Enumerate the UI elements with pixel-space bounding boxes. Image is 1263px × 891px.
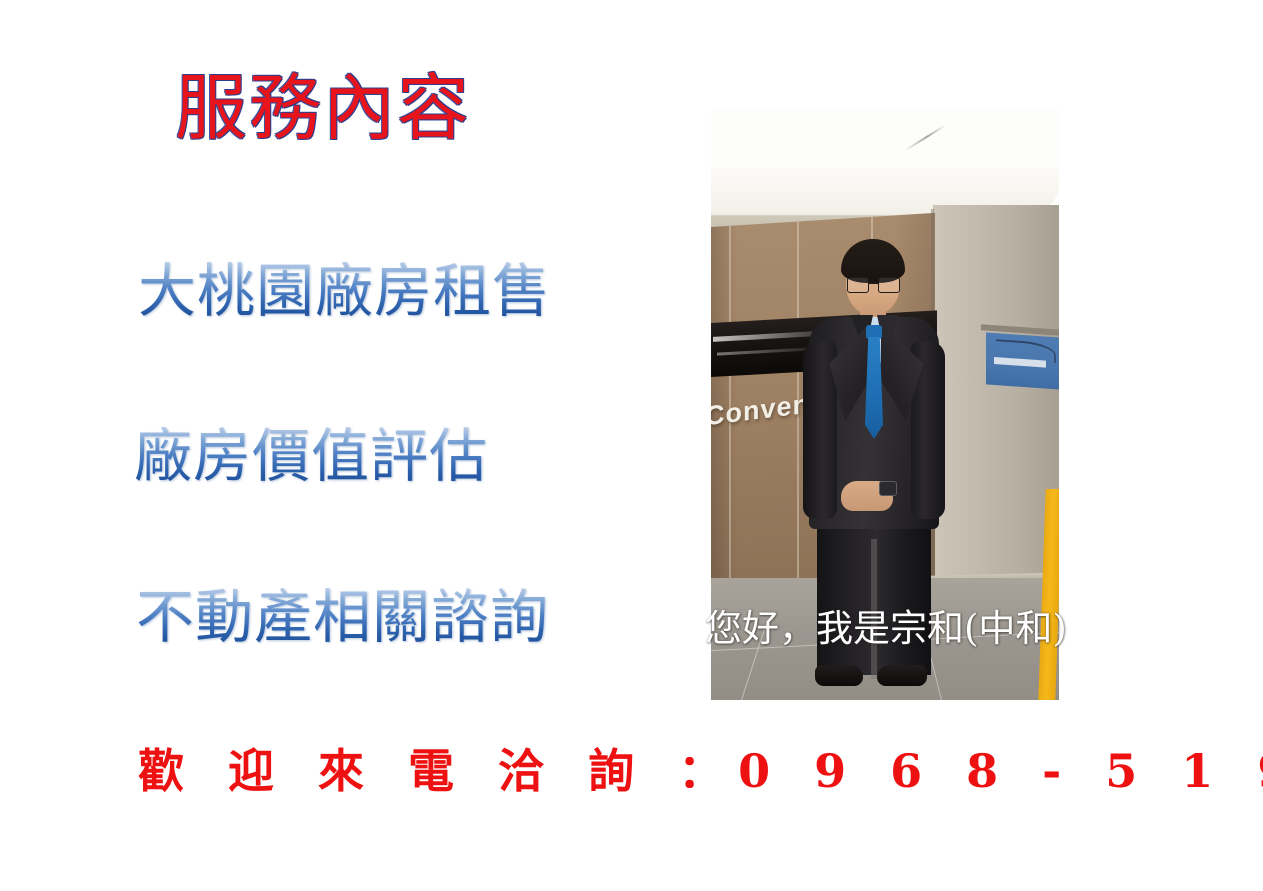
eyeglass-lens-right <box>878 277 900 293</box>
eyeglasses-icon <box>847 277 900 292</box>
slide-canvas: 服務內容 大桃園廠房租售 廠房價值評估 不動產相關諮詢 Convention C… <box>0 0 1263 891</box>
person-right-shoe <box>877 665 927 686</box>
page-title: 服務內容 <box>175 72 471 144</box>
person-left-shoe <box>815 665 863 686</box>
service-item-2: 廠房價值評估 <box>134 427 488 485</box>
service-item-3: 不動產相關諮詢 <box>136 588 549 646</box>
poster-scribble <box>996 339 1056 363</box>
service-item-1: 大桃園廠房租售 <box>138 262 551 320</box>
person-wristwatch <box>879 481 897 496</box>
contact-prefix: 歡 迎 來 電 洽 詢 ： <box>138 744 738 798</box>
ceiling-light-streak <box>904 124 946 151</box>
contact-phone-number: 0 9 6 8 - 5 1 9 - 8 8 8 <box>738 744 1263 798</box>
contact-line: 歡 迎 來 電 洽 詢 ：0 9 6 8 - 5 1 9 - 8 8 8 <box>138 748 1263 794</box>
photo-blue-poster <box>986 332 1059 389</box>
eyeglass-lens-left <box>847 277 869 293</box>
person-necktie <box>865 337 883 439</box>
photo-caption: 您好，我是宗和(中和) <box>705 610 1067 647</box>
person-tie-knot <box>866 325 882 339</box>
